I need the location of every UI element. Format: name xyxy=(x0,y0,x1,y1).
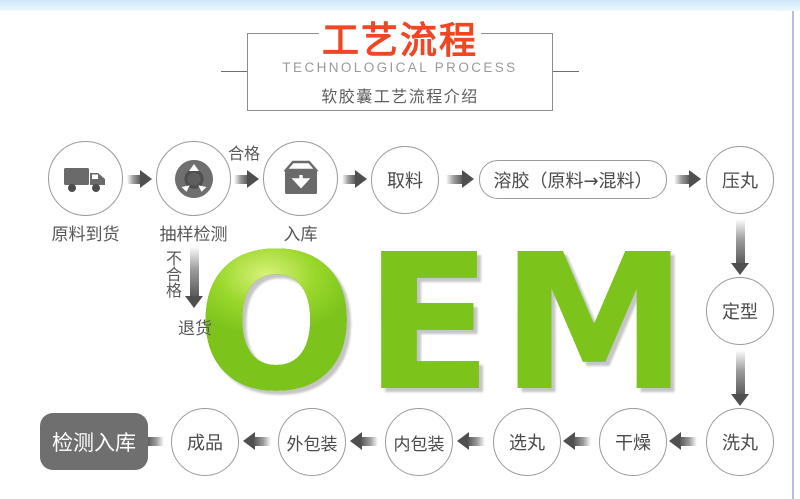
inbox-arrow-icon xyxy=(264,142,337,215)
right-decorative-rule xyxy=(792,11,794,499)
node-press-pill[interactable]: 压丸 xyxy=(706,146,774,214)
page-subtitle: 软胶囊工艺流程介绍 xyxy=(247,83,553,107)
edge-label-fail: 不合格 xyxy=(160,250,184,298)
node-wash-pill[interactable]: 洗丸 xyxy=(706,408,774,476)
arrow-take-to-solgel xyxy=(446,170,474,189)
node-drying[interactable]: 干燥 xyxy=(599,408,667,476)
gear-ring-icon xyxy=(157,142,230,215)
node-final-check-in[interactable]: 检测入库 xyxy=(40,413,148,470)
arrow-fail-to-return xyxy=(185,246,204,308)
arrow-sampling-to-warehouse xyxy=(234,170,259,189)
page-title: 工艺流程 xyxy=(247,19,553,63)
node-select-pill[interactable]: 选丸 xyxy=(493,408,561,476)
arrow-wash-to-drying xyxy=(669,432,697,451)
arrow-inner-to-outer xyxy=(350,432,378,451)
page-title-english: TECHNOLOGICAL PROCESS xyxy=(247,60,553,75)
oem-watermark: OEM xyxy=(196,236,696,412)
arrow-solgel-to-press xyxy=(674,170,701,189)
arrow-outer-to-finished xyxy=(243,432,271,451)
node-take-material[interactable]: 取料 xyxy=(371,146,439,214)
arrow-drying-to-select xyxy=(563,432,591,451)
header-tick-right xyxy=(553,71,579,72)
node-sol-gel[interactable]: 溶胶（原料→混料） xyxy=(479,160,667,199)
edge-label-pass: 合格 xyxy=(228,140,260,164)
node-return-goods: 退货 xyxy=(150,314,240,339)
node-raw-arrival[interactable] xyxy=(48,141,123,216)
node-sampling-test[interactable] xyxy=(156,141,231,216)
caption-warehouse-in: 入库 xyxy=(248,220,353,245)
arrow-select-to-inner xyxy=(457,432,485,451)
truck-icon xyxy=(49,142,122,215)
top-decorative-band xyxy=(0,0,800,11)
node-warehouse-in[interactable] xyxy=(263,141,338,216)
arrow-warehouse-to-take xyxy=(342,170,367,189)
node-shaping[interactable]: 定型 xyxy=(706,277,774,345)
header-block: 工艺流程 TECHNOLOGICAL PROCESS 软胶囊工艺流程介绍 xyxy=(247,33,553,111)
node-finished-product[interactable]: 成品 xyxy=(171,408,239,476)
arrow-press-to-shaping xyxy=(731,219,750,275)
caption-sampling-test: 抽样检测 xyxy=(136,220,251,245)
arrow-shaping-to-wash xyxy=(731,350,750,406)
caption-raw-arrival: 原料到货 xyxy=(28,220,143,245)
node-outer-package[interactable]: 外包装 xyxy=(278,408,346,476)
header-tick-left xyxy=(221,71,247,72)
process-flow-infographic: 工艺流程 TECHNOLOGICAL PROCESS 软胶囊工艺流程介绍 OEM… xyxy=(0,0,800,499)
node-inner-package[interactable]: 内包装 xyxy=(385,408,453,476)
arrow-raw-to-sampling xyxy=(127,170,152,189)
